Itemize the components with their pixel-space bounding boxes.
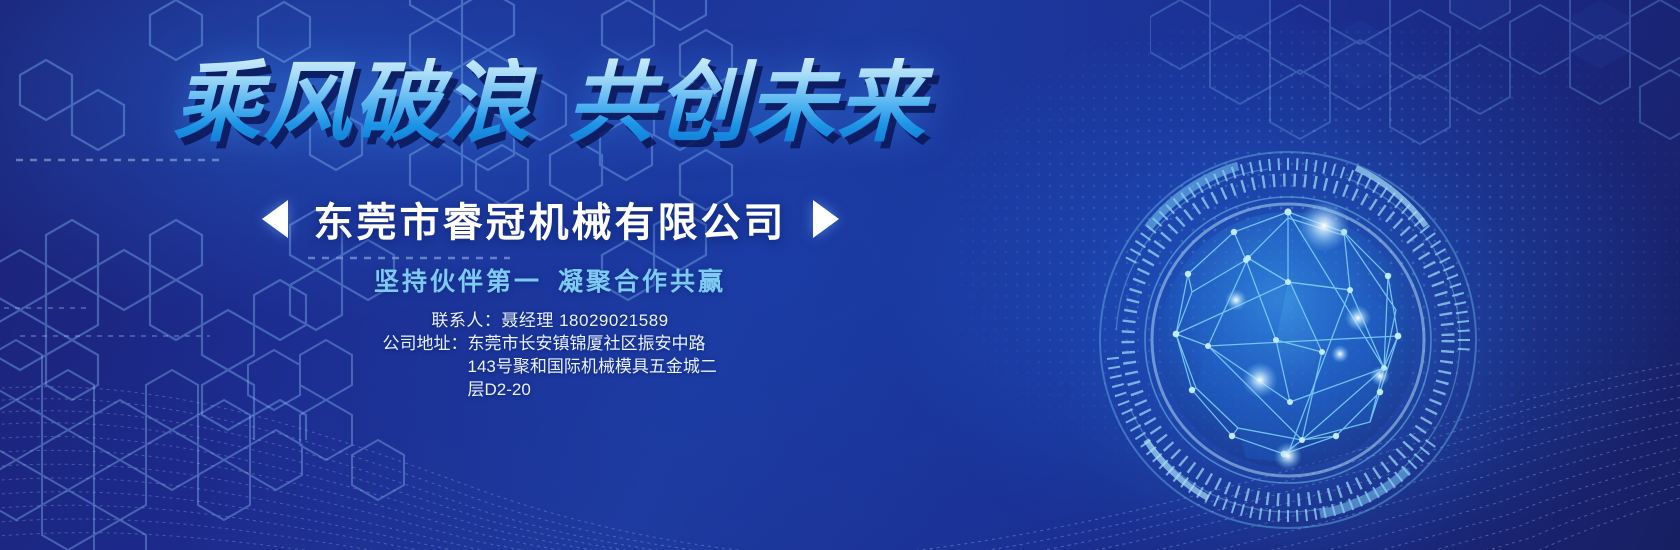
tagline-part-2: 凝聚合作共赢 xyxy=(558,268,726,296)
contact-address-row: 公司地址： 东莞市长安镇锦厦社区振安中路143号聚和国际机械模具五金城二层D2-… xyxy=(0,333,1100,402)
contact-block: 联系人：聂经理 18029021589 公司地址： 东莞市长安镇锦厦社区振安中路… xyxy=(0,310,1100,402)
tagline: 坚持伙伴第一凝聚合作共赢 xyxy=(0,262,1100,298)
tagline-part-1: 坚持伙伴第一 xyxy=(374,268,542,296)
left-triangle-icon xyxy=(262,200,288,238)
company-name: 东莞市睿冠机械有限公司 xyxy=(314,190,787,248)
page-title: 乘风破浪共创未来 xyxy=(0,58,1100,148)
contact-person-line: 联系人：聂经理 18029021589 xyxy=(0,310,1100,333)
promo-banner: 乘风破浪共创未来 东莞市睿冠机械有限公司 坚持伙伴第一凝聚合作共赢 联系人：聂经… xyxy=(0,0,1680,550)
address-value: 东莞市长安镇锦厦社区振安中路143号聚和国际机械模具五金城二层D2-20 xyxy=(468,333,718,402)
company-name-row: 东莞市睿冠机械有限公司 xyxy=(0,190,1100,248)
address-label: 公司地址： xyxy=(383,333,468,356)
right-triangle-icon xyxy=(813,200,839,238)
banner-text-content: 乘风破浪共创未来 东莞市睿冠机械有限公司 坚持伙伴第一凝聚合作共赢 联系人：聂经… xyxy=(0,0,1100,550)
tech-globe-network-sphere xyxy=(1088,140,1488,540)
headline-part-2: 共创未来 xyxy=(567,53,927,152)
headline-part-1: 乘风破浪 xyxy=(173,53,533,152)
